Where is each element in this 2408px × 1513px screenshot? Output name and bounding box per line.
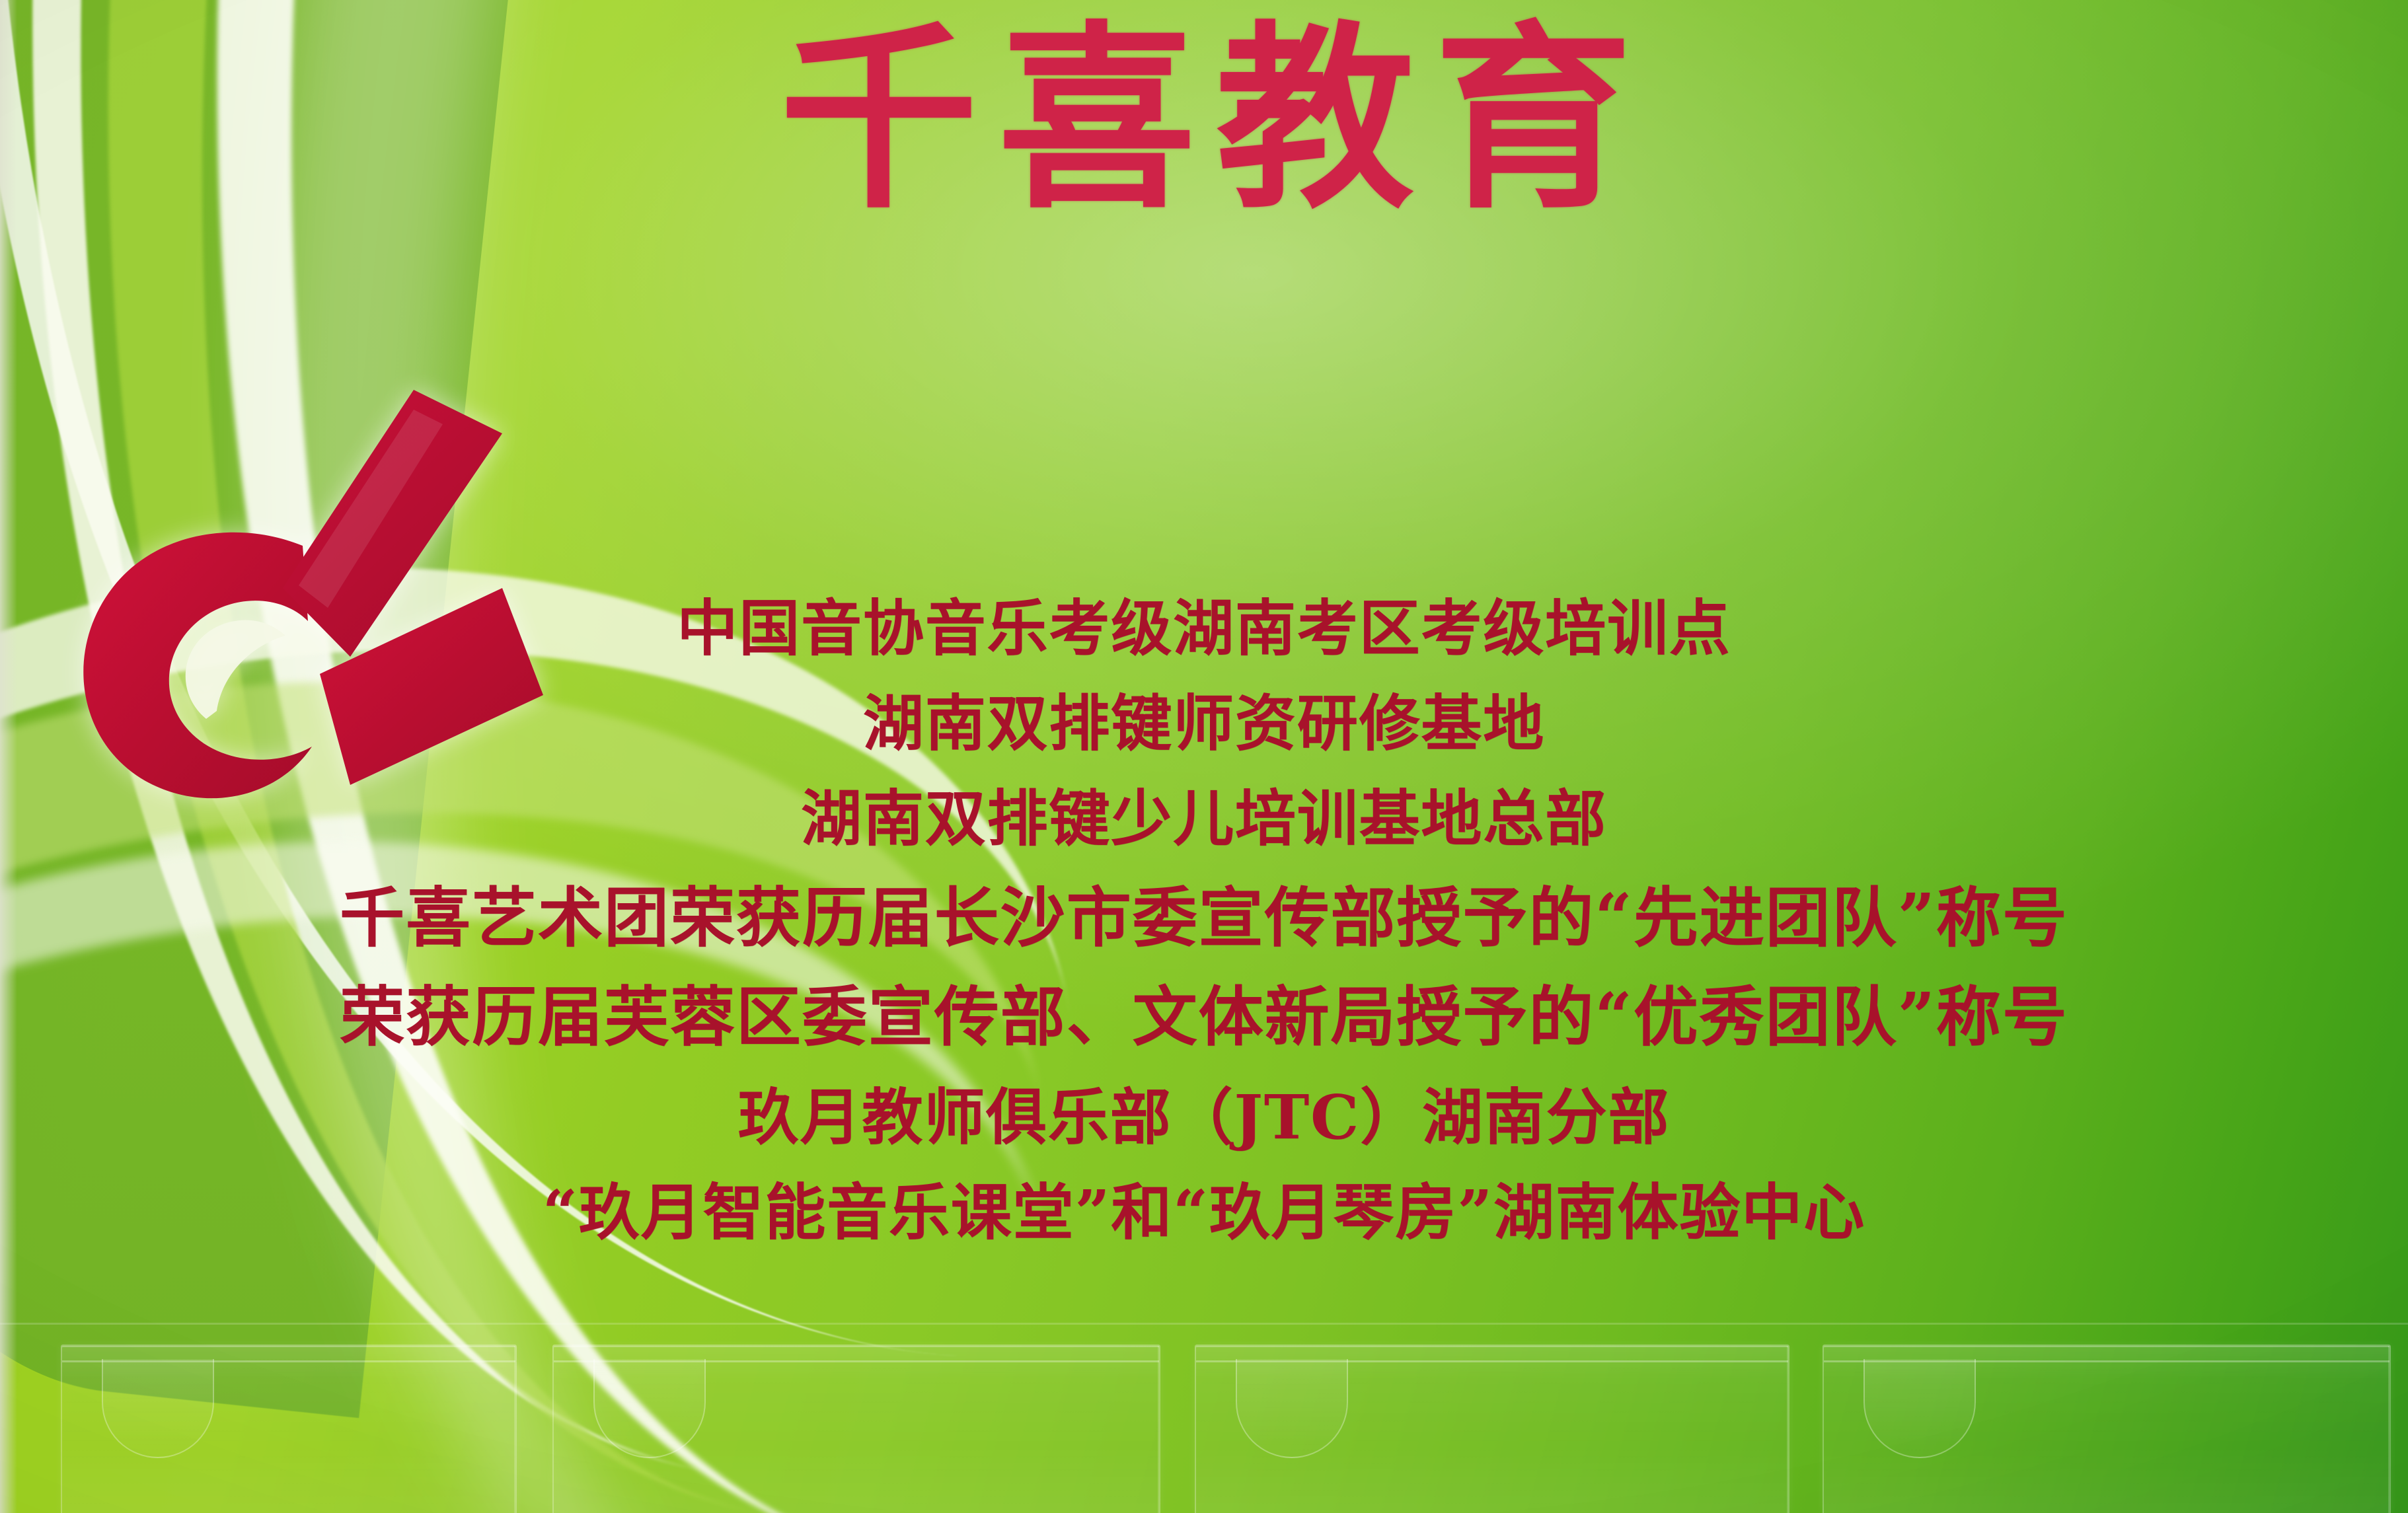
credential-line: 千喜艺术团荣获历届长沙市委宣传部授予的“先进团队”称号 — [0, 886, 2408, 951]
credential-line: 湖南双排键少儿培训基地总部 — [0, 788, 2408, 849]
brochure-holder-row — [0, 1315, 2408, 1513]
credential-line: 荣获历届芙蓉区委宣传部、文体新局授予的“优秀团队”称号 — [0, 985, 2408, 1050]
credential-line: 湖南双排键师资研修基地 — [0, 693, 2408, 754]
credential-line: “玖月智能音乐课堂”和“玖月琴房”湖南体验中心 — [0, 1182, 2408, 1243]
holder-notch-icon — [1236, 1359, 1348, 1458]
wall-sign-panel: 千喜教育 中国音协音乐考级湖南考区考级培训点 湖南双排键师资研修基地 湖南双排键… — [0, 0, 2408, 1513]
holder-notch-icon — [102, 1359, 214, 1458]
holder-notch-icon — [593, 1359, 706, 1458]
holder-notch-icon — [1863, 1359, 1976, 1458]
brochure-holder[interactable] — [552, 1345, 1160, 1513]
brochure-holder[interactable] — [61, 1345, 517, 1513]
credential-line: 玖月教师俱乐部（JTC）湖南分部 — [0, 1087, 2408, 1148]
credential-list: 中国音协音乐考级湖南考区考级培训点 湖南双排键师资研修基地 湖南双排键少儿培训基… — [0, 598, 2408, 1243]
page-title: 千喜教育 — [370, 20, 2062, 218]
brochure-holder[interactable] — [1195, 1345, 1789, 1513]
brochure-holder[interactable] — [1823, 1345, 2391, 1513]
credential-line: 中国音协音乐考级湖南考区考级培训点 — [0, 598, 2408, 659]
